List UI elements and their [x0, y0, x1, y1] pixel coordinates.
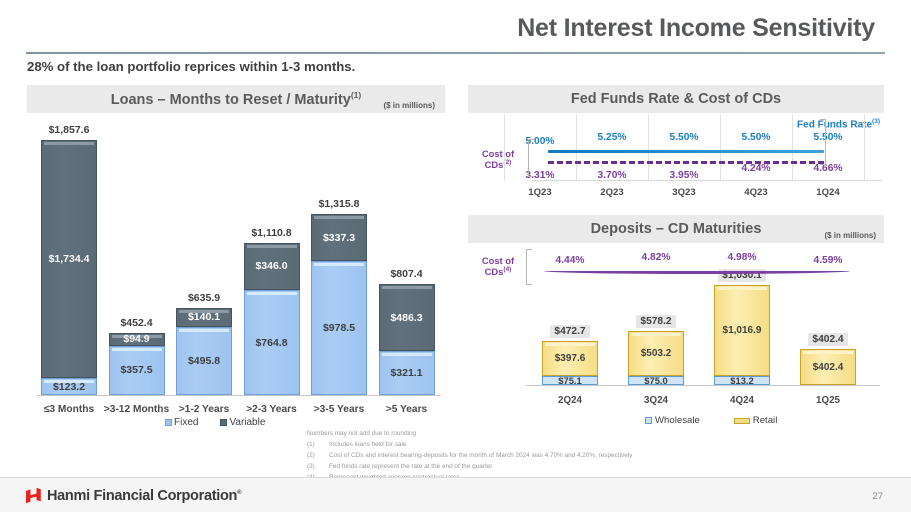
- deposits-bar-chart: Cost of CDs(4) $472.7$397.6$75.12Q244.44…: [468, 243, 884, 408]
- footnote-2-text: Cost of CDs and interest bearing-deposit…: [329, 450, 632, 461]
- deposits-bar-column: $578.2$503.2$75.0: [628, 331, 684, 385]
- fed-funds-panel-title: Fed Funds Rate & Cost of CDs: [571, 91, 781, 107]
- loans-segment-label-fixed: $357.5: [120, 364, 152, 376]
- loans-bar-segment-fixed: $357.5: [109, 346, 165, 395]
- loans-bar-segment-variable: $1,734.4: [41, 140, 97, 378]
- loans-bar-total-label: $635.9: [161, 292, 247, 304]
- loans-bar-segment-fixed: $978.5: [311, 261, 367, 395]
- deposits-cds-legend-sup: (4): [503, 266, 511, 273]
- legend-item-wholesale: Wholesale: [645, 415, 700, 426]
- fed-funds-x-axis-label: 2Q23: [579, 187, 645, 198]
- deposits-cost-of-cds-line: [544, 271, 850, 274]
- deposits-legend: Wholesale Retail: [645, 415, 777, 426]
- loans-bar-segment-fixed: $321.1: [379, 351, 435, 395]
- deposits-bar-total-text: $578.2: [636, 315, 675, 328]
- loans-bar-segment-variable: $337.3: [311, 214, 367, 260]
- loans-bar-column: $807.4$486.3$321.1: [379, 284, 435, 395]
- cost-of-cds-value-label: 3.70%: [579, 170, 645, 181]
- loans-segment-label-fixed: $495.8: [188, 355, 220, 367]
- deposits-x-axis: [526, 385, 880, 386]
- deposits-cost-of-cds-value-label: 4.98%: [709, 252, 775, 263]
- fed-funds-rate-value-label: 5.50%: [651, 132, 717, 143]
- slide-subtitle: 28% of the loan portfolio reprices withi…: [27, 59, 355, 74]
- loans-bar-total-label: $1,857.6: [26, 124, 112, 136]
- loans-bar-segment-variable: $346.0: [244, 243, 300, 290]
- deposits-bar-column: $1,030.1$1,016.9$13.2: [714, 285, 770, 385]
- deposits-segment-label-retail: $402.4: [813, 362, 844, 373]
- fed-funds-gridline: [792, 115, 793, 181]
- company-logo: Hanmi Financial Corporation®: [25, 487, 241, 504]
- deposits-bar-segment-wholesale: $75.0: [628, 376, 684, 385]
- loans-panel-title-text: Loans – Months to Reset / Maturity: [111, 92, 351, 108]
- loans-bar-column: $1,857.6$1,734.4$123.2: [41, 140, 97, 395]
- fed-funds-gridline: [576, 115, 577, 181]
- loans-bar-chart: $1,857.6$1,734.4$123.2≤3 Months$452.4$94…: [27, 118, 445, 396]
- legend-label-retail: Retail: [753, 415, 778, 426]
- deposits-bar-segment-retail: $397.6: [542, 341, 598, 377]
- page-number: 27: [872, 491, 883, 502]
- loans-bar-column: $635.9$140.1$495.8: [176, 308, 232, 395]
- fed-funds-x-axis-label: 1Q24: [795, 187, 861, 198]
- deposits-x-axis-label: 1Q25: [788, 395, 868, 406]
- loans-segment-label-variable: $486.3: [390, 312, 422, 324]
- legend-item-variable: Variable: [220, 417, 265, 428]
- fed-funds-rate-legend-text: Fed Funds Rate: [797, 119, 872, 130]
- loans-bar-total-label: $1,315.8: [296, 198, 382, 210]
- loans-bar-segment-variable: $486.3: [379, 284, 435, 351]
- loans-segment-label-variable: $346.0: [255, 260, 287, 272]
- legend-item-retail: Retail: [734, 415, 778, 426]
- loans-panel-title: Loans – Months to Reset / Maturity(1): [111, 90, 361, 108]
- loans-segment-label-fixed: $764.8: [255, 337, 287, 349]
- footnote-3: (3) Fed funds rate represent the rate at…: [307, 461, 632, 472]
- deposits-bar-total-text: $402.4: [808, 333, 847, 346]
- deposits-panel-title: Deposits – CD Maturities: [591, 221, 762, 237]
- fed-funds-gridline: [720, 115, 721, 181]
- fed-funds-rate-legend-label: Fed Funds Rate(3): [797, 118, 880, 131]
- deposits-bar-segment-retail: $503.2: [628, 331, 684, 376]
- legend-swatch-variable-icon: [220, 419, 227, 426]
- deposits-bar-segment-retail: $402.4: [800, 349, 856, 385]
- deposits-bar-total-text: $472.7: [550, 325, 589, 338]
- loans-bar-segment-fixed: $764.8: [244, 290, 300, 395]
- loans-segment-label-fixed: $123.2: [53, 381, 85, 393]
- footnote-3-marker: (3): [307, 461, 329, 472]
- fed-funds-rate-value-label: 5.25%: [579, 132, 645, 143]
- cost-of-cds-value-label: 4.66%: [795, 163, 861, 174]
- deposits-bar-total-label: $402.4: [784, 333, 872, 346]
- loans-bar-column: $1,110.8$346.0$764.8: [244, 243, 300, 395]
- fed-funds-rate-bracket: [820, 119, 826, 165]
- loans-x-axis: [37, 395, 441, 396]
- fed-funds-gridline: [648, 115, 649, 181]
- fed-funds-gridline: [864, 115, 865, 181]
- deposits-segment-label-wholesale: $13.2: [730, 376, 753, 385]
- loans-bar-total-label: $452.4: [94, 317, 180, 329]
- loans-units-label: ($ in millions): [383, 101, 435, 110]
- fed-funds-rate-legend-sup: (3): [872, 118, 880, 125]
- loans-bar-segment-variable: $94.9: [109, 333, 165, 346]
- loans-bar-total-label: $1,110.8: [229, 227, 315, 239]
- footnote-1-marker: (1): [307, 439, 329, 450]
- fed-funds-line-chart: Fed Funds Rate(3) Cost of CDs(2) 5.00%3.…: [468, 113, 884, 205]
- cost-of-cds-value-label: 3.95%: [651, 170, 717, 181]
- footnote-1: (1) Includes loans held for sale: [307, 439, 632, 450]
- fed-funds-cds-legend-label: Cost of CDs(2): [470, 148, 526, 171]
- deposits-x-axis-label: 4Q24: [702, 395, 782, 406]
- deposits-bar-segment-retail: $1,016.9: [714, 285, 770, 376]
- legend-label-variable: Variable: [229, 417, 265, 428]
- loans-segment-label-fixed: $978.5: [323, 322, 355, 334]
- fed-funds-x-axis-label: 3Q23: [651, 187, 717, 198]
- loans-bar-segment-variable: $140.1: [176, 308, 232, 327]
- deposits-cds-legend-label: Cost of CDs(4): [470, 255, 526, 278]
- loans-legend: Fixed Variable: [165, 417, 265, 428]
- cost-of-cds-value-label: 4.24%: [723, 163, 789, 174]
- title-divider: [26, 52, 885, 54]
- legend-label-wholesale: Wholesale: [655, 415, 700, 426]
- footnote-lead: Numbers may not add due to rounding: [307, 428, 632, 439]
- deposits-bar-total-label: $578.2: [612, 315, 700, 328]
- deposits-bar-total-label: $472.7: [526, 325, 614, 338]
- loans-bar-column: $452.4$94.9$357.5: [109, 333, 165, 395]
- loans-segment-label-variable: $1,734.4: [49, 253, 90, 265]
- deposits-x-axis-label: 2Q24: [530, 395, 610, 406]
- deposits-x-axis-label: 3Q24: [616, 395, 696, 406]
- cost-of-cds-value-label: 3.31%: [507, 170, 573, 181]
- loans-bar-segment-fixed: $495.8: [176, 327, 232, 395]
- deposits-segment-label-wholesale: $75.0: [644, 376, 667, 385]
- legend-swatch-fixed-icon: [165, 419, 172, 426]
- loans-x-axis-label: >5 Years: [362, 404, 452, 415]
- footnote-3-text: Fed funds rate represent the rate at the…: [329, 461, 492, 472]
- deposits-bar-segment-wholesale: $75.1: [542, 376, 598, 385]
- legend-swatch-retail-icon: [734, 418, 750, 424]
- loans-panel-header: Loans – Months to Reset / Maturity(1) ($…: [27, 85, 445, 113]
- fed-funds-rate-line: [548, 150, 824, 153]
- deposits-segment-label-retail: $1,016.9: [723, 325, 762, 336]
- footnote-2: (2) Cost of CDs and interest bearing-dep…: [307, 450, 632, 461]
- deposits-cost-of-cds-value-label: 4.82%: [623, 252, 689, 263]
- deposits-cost-of-cds-value-label: 4.59%: [795, 255, 861, 266]
- fed-funds-rate-value-label: 5.50%: [723, 132, 789, 143]
- fed-funds-x-axis-label: 4Q23: [723, 187, 789, 198]
- legend-label-fixed: Fixed: [174, 417, 198, 428]
- cost-of-cds-line: [548, 161, 824, 164]
- footnote-1-text: Includes loans held for sale: [329, 439, 406, 450]
- footnotes-block: Numbers may not add due to rounding (1) …: [307, 428, 632, 483]
- company-logo-text: Hanmi Financial Corporation®: [47, 488, 241, 504]
- deposits-segment-label-retail: $397.6: [555, 353, 586, 364]
- fed-funds-rate-value-label: 5.50%: [795, 132, 861, 143]
- page-title: Net Interest Income Sensitivity: [517, 14, 875, 43]
- deposits-cost-of-cds-value-label: 4.44%: [537, 255, 603, 266]
- deposits-bar-column: $472.7$397.6$75.1: [542, 341, 598, 386]
- deposits-panel-header: Deposits – CD Maturities ($ in millions): [468, 215, 884, 243]
- deposits-segment-label-retail: $503.2: [641, 348, 672, 359]
- fed-funds-panel-header: Fed Funds Rate & Cost of CDs: [468, 85, 884, 113]
- loans-segment-label-variable: $337.3: [323, 232, 355, 244]
- legend-item-fixed: Fixed: [165, 417, 198, 428]
- loans-bar-total-label: $807.4: [364, 268, 450, 280]
- fed-funds-gridline: [504, 115, 505, 181]
- hanmi-h-mark-icon: [25, 487, 42, 504]
- fed-funds-rate-value-label: 5.00%: [507, 136, 573, 147]
- loans-bar-segment-fixed: $123.2: [41, 378, 97, 395]
- deposits-cds-bracket: [526, 249, 532, 285]
- fed-funds-x-axis-label: 1Q23: [507, 187, 573, 198]
- loans-segment-label-fixed: $321.1: [390, 367, 422, 379]
- legend-swatch-wholesale-icon: [645, 417, 652, 424]
- deposits-bar-segment-wholesale: $13.2: [714, 376, 770, 385]
- company-name: Hanmi Financial Corporation: [47, 488, 237, 504]
- deposits-bar-column: $402.4$402.4: [800, 349, 856, 385]
- deposits-segment-label-wholesale: $75.1: [558, 376, 581, 385]
- deposits-units-label: ($ in millions): [824, 231, 876, 240]
- loans-segment-label-variable: $94.9: [123, 333, 149, 345]
- loans-bar-column: $1,315.8$337.3$978.5: [311, 214, 367, 395]
- footnote-2-marker: (2): [307, 450, 329, 461]
- loans-segment-label-variable: $140.1: [188, 311, 220, 323]
- cost-of-cds-bracket: [528, 139, 534, 177]
- loans-panel-title-sup: (1): [351, 90, 361, 100]
